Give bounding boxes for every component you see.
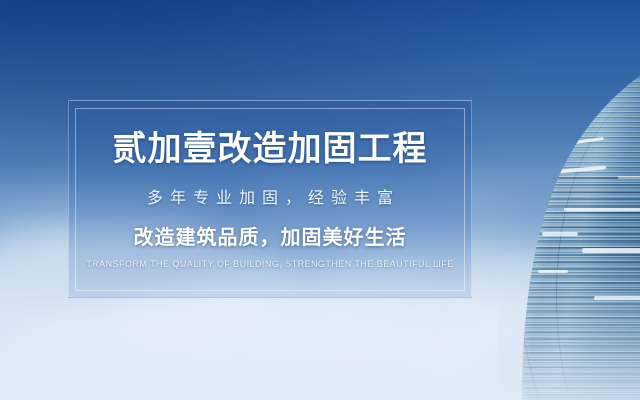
- building-base-haze: [498, 252, 640, 400]
- panel-copy: 贰加壹改造加固工程 多年专业加固，经验丰富 改造建筑品质，加固美好生活 TRAN…: [69, 101, 471, 269]
- window-highlight: [542, 232, 578, 236]
- glass-skyscraper: [498, 56, 640, 400]
- slogan-english-text: TRANSFORM THE QUALITY OF BUILDING, STREN…: [69, 247, 471, 269]
- slogan-text: 改造建筑品质，加固美好生活: [69, 206, 471, 247]
- banner-image: 贰加壹改造加固工程 多年专业加固，经验丰富 改造建筑品质，加固美好生活 TRAN…: [0, 0, 640, 400]
- tagline-text: 多年专业加固，经验丰富: [69, 166, 471, 206]
- window-highlight: [564, 208, 640, 211]
- window-highlight: [618, 176, 640, 179]
- headline-panel: 贰加壹改造加固工程 多年专业加固，经验丰富 改造建筑品质，加固美好生活 TRAN…: [68, 100, 472, 298]
- headline-title: 贰加壹改造加固工程: [69, 101, 471, 166]
